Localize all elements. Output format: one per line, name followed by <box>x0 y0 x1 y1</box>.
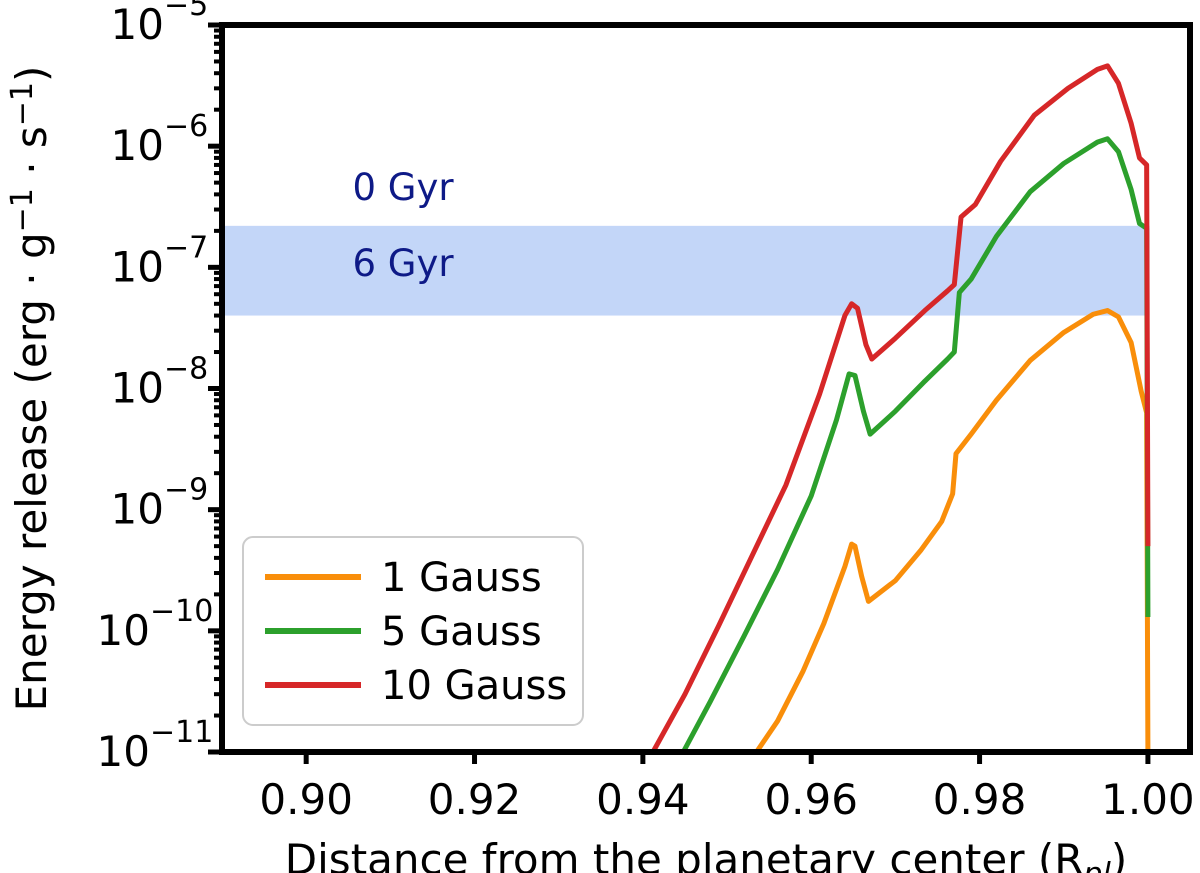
y-tick-label-exponent-6: −5 <box>164 0 208 23</box>
y-tick-label-mantissa-1: 10 <box>97 606 150 655</box>
y-axis-label-part-2: · s <box>7 126 56 188</box>
y-tick-label-exponent-1: −10 <box>150 594 213 629</box>
x-tick-label-4: 0.98 <box>933 775 1027 824</box>
y-tick-label-exponent-4: −7 <box>164 230 208 265</box>
y-tick-label-mantissa-2: 10 <box>111 485 164 534</box>
x-tick-label-0: 0.90 <box>259 775 353 824</box>
y-axis-label-part-3: −1 <box>5 82 40 126</box>
legend-label-5-gauss: 5 Gauss <box>381 609 542 655</box>
y-tick-label-mantissa-6: 10 <box>111 0 164 49</box>
y-axis-label-part-0: Energy release (erg · g <box>7 232 56 711</box>
y-tick-label-exponent-3: −8 <box>164 352 208 387</box>
x-axis-label-subscript: pl <box>1082 857 1111 873</box>
x-tick-label-3: 0.96 <box>764 775 858 824</box>
x-tick-label-1: 0.92 <box>428 775 522 824</box>
x-axis-label-main: Distance from the planetary center (R <box>285 835 1084 873</box>
x-tick-label-5: 1.00 <box>1101 775 1195 824</box>
y-tick-label-exponent-0: −11 <box>150 715 213 750</box>
x-axis-label-text: Distance from the planetary center (Rpl) <box>285 835 1127 873</box>
figure-container: 0 Gyr6 Gyr0.900.920.940.960.981.0010−111… <box>0 0 1200 873</box>
energy-release-plot: 0 Gyr6 Gyr0.900.920.940.960.981.0010−111… <box>0 0 1200 873</box>
y-tick-label-mantissa-5: 10 <box>111 121 164 170</box>
y-tick-label-mantissa-3: 10 <box>111 364 164 413</box>
legend-label-1-gauss: 1 Gauss <box>381 555 542 601</box>
y-axis-label-part-1: −1 <box>5 188 40 232</box>
legend: 1 Gauss5 Gauss10 Gauss <box>243 537 583 725</box>
y-tick-label-mantissa-4: 10 <box>111 242 164 291</box>
annotation-6-gyr: 6 Gyr <box>352 242 454 285</box>
x-tick-label-2: 0.94 <box>596 775 690 824</box>
y-axis-label-text: Energy release (erg · g−1 · s−1) <box>5 66 56 712</box>
y-tick-label-exponent-2: −9 <box>164 473 208 508</box>
y-tick-label-exponent-5: −6 <box>164 109 208 144</box>
legend-label-10-gauss: 10 Gauss <box>381 663 567 709</box>
annotation-0-gyr: 0 Gyr <box>352 166 454 209</box>
y-tick-label-mantissa-0: 10 <box>97 727 150 776</box>
x-axis-label-tail: ) <box>1111 835 1127 873</box>
x-axis-label: Distance from the planetary center (Rpl) <box>285 835 1127 873</box>
y-axis-label-part-4: ) <box>7 66 56 82</box>
